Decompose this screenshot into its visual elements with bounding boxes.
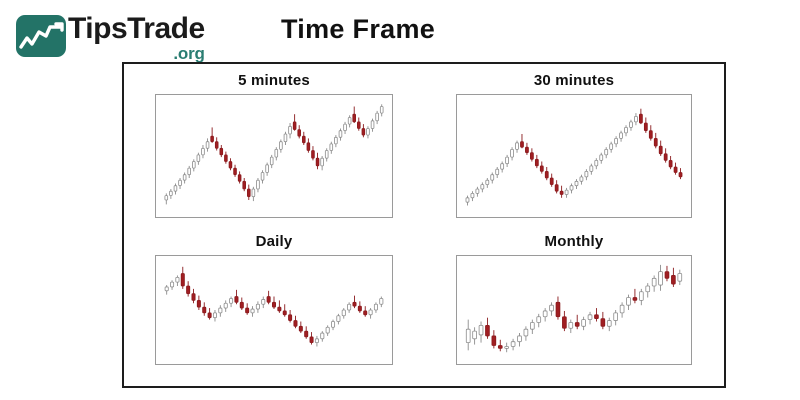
chart-title-30-minutes: 30 minutes [534,72,614,89]
candlestick-chart-daily [155,255,393,365]
brand-tld: .org [68,45,205,62]
brand-name: TipsTrade [68,14,205,44]
brand-logo[interactable]: TipsTrade .org [16,12,205,62]
line-chart-logo-icon [16,15,66,57]
chart-panel-monthly: Monthly [424,225,724,386]
chart-title-5-minutes: 5 minutes [238,72,310,89]
brand-wordmark: TipsTrade .org [68,12,205,62]
candlestick-chart-monthly [456,255,692,365]
chart-title-monthly: Monthly [545,233,604,250]
chart-panel-30-minutes: 30 minutes [424,64,724,225]
chart-title-daily: Daily [256,233,293,250]
chart-panel-5-minutes: 5 minutes [124,64,424,225]
candlestick-chart-30-minutes [456,94,692,218]
chart-panel-grid: 5 minutes 30 minutes Daily Monthly [124,64,724,386]
chart-panel-daily: Daily [124,225,424,386]
time-frame-figure: 5 minutes 30 minutes Daily Monthly [122,62,726,388]
page-title: Time Frame [281,14,435,45]
candlestick-chart-5-minutes [155,94,393,218]
